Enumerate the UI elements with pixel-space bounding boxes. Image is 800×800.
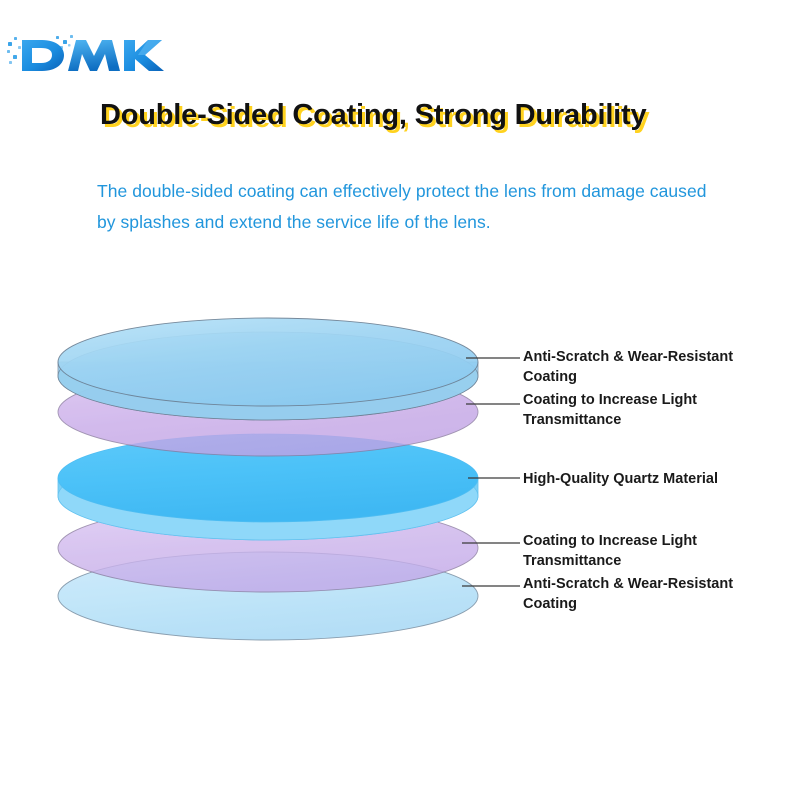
brand-logo[interactable] (6, 28, 186, 82)
page-root: Double-Sided Coating, Strong Durability … (0, 0, 800, 800)
dmk-logo-icon (6, 28, 186, 82)
logo-letter-d (22, 40, 64, 71)
logo-letter-k (124, 40, 164, 71)
logo-letter-m (68, 40, 120, 71)
callout-label-top-transmittance: Coating to Increase Light Transmittance (523, 390, 773, 430)
page-title: Double-Sided Coating, Strong Durability (100, 99, 646, 132)
layer-top-anti-scratch (58, 318, 478, 420)
callout-label-top-anti-scratch: Anti-Scratch & Wear-Resistant Coating (523, 347, 773, 387)
callout-label-bottom-anti-scratch: Anti-Scratch & Wear-Resistant Coating (523, 574, 773, 614)
callout-label-quartz-core: High-Quality Quartz Material (523, 469, 773, 489)
callout-label-bottom-transmittance: Coating to Increase Light Transmittance (523, 531, 773, 571)
page-subtitle: The double-sided coating can effectively… (97, 176, 715, 238)
